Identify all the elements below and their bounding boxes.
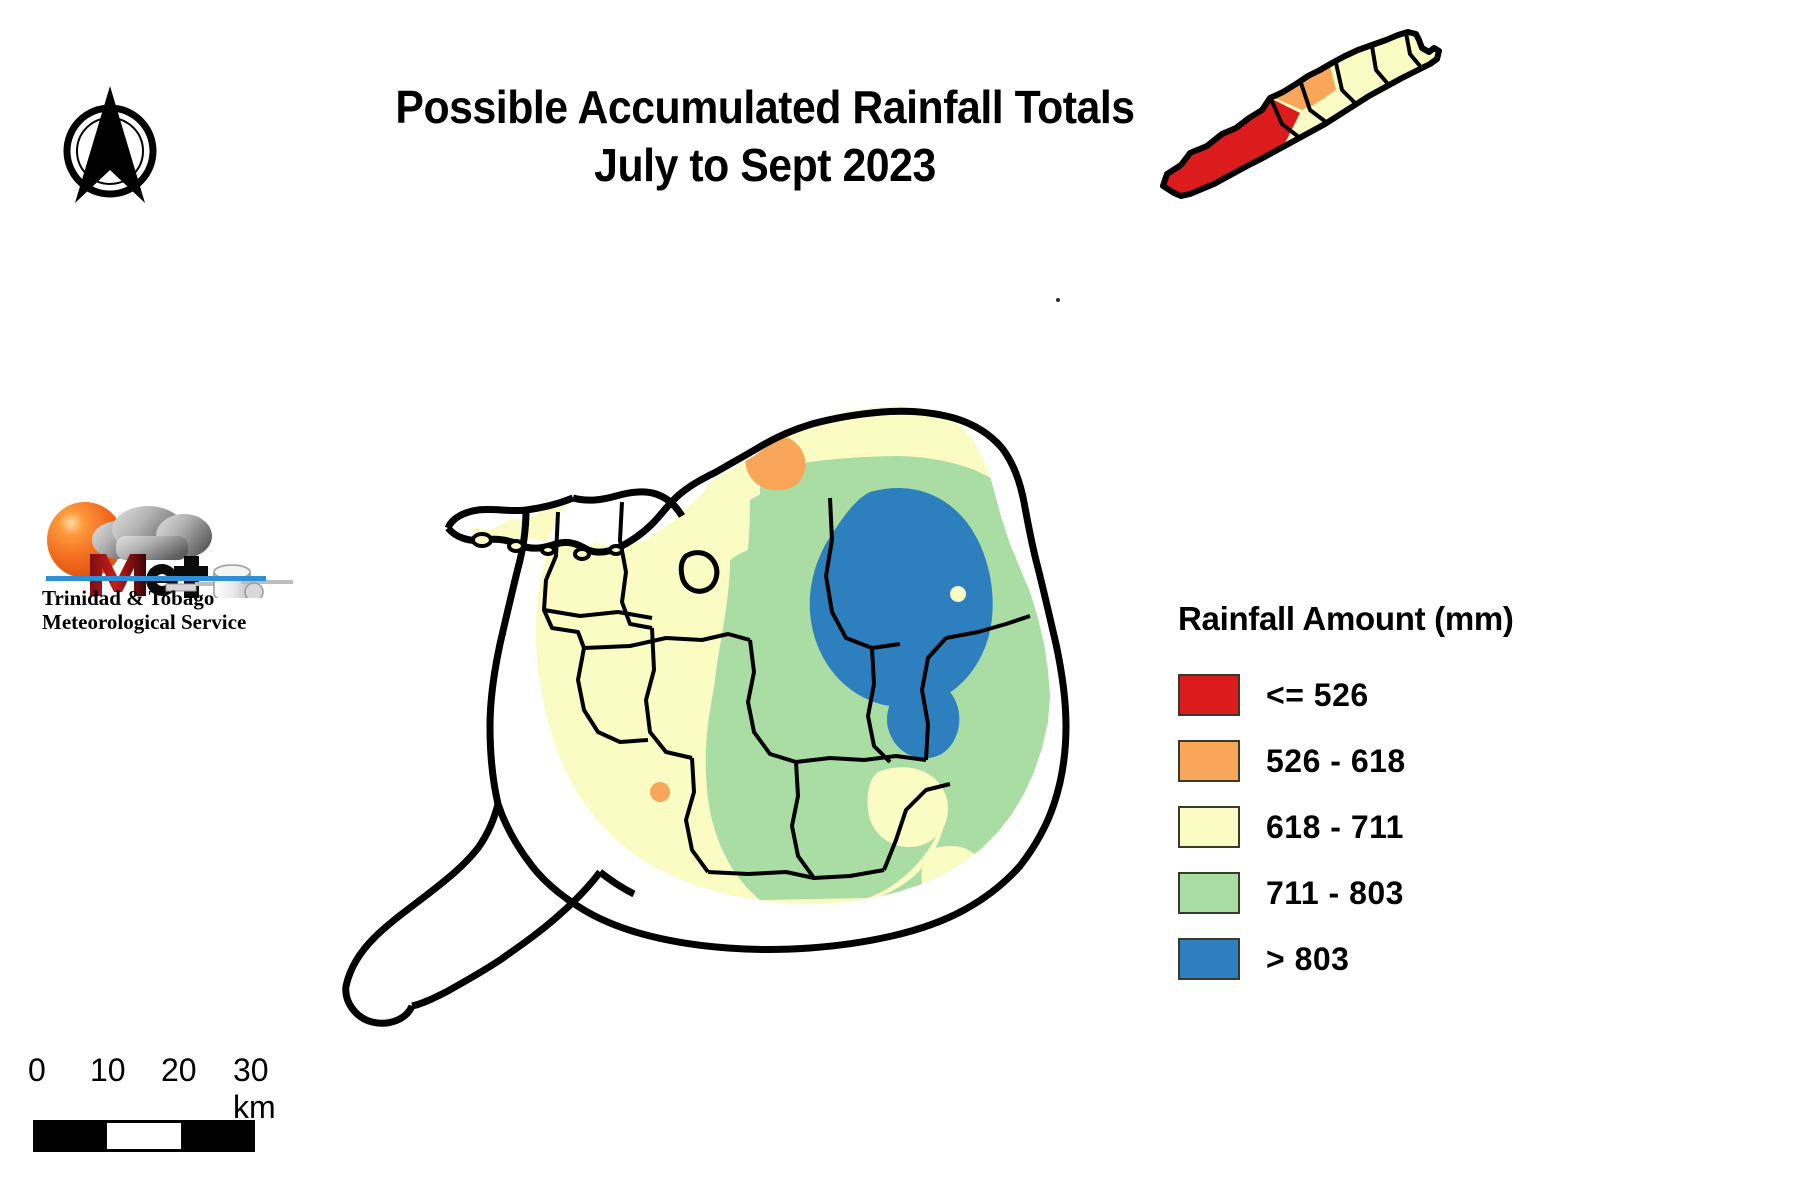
inset-map-tobago <box>1150 18 1480 218</box>
rainfall-surface <box>330 380 1150 1060</box>
legend-item-0[interactable]: <= 526 <box>1178 674 1608 716</box>
title-line-2: July to Sept 2023 <box>333 136 1198 194</box>
title-line-1: Possible Accumulated Rainfall Totals <box>333 78 1198 136</box>
legend-label-2: 618 - 711 <box>1266 809 1404 846</box>
legend-item-4[interactable]: > 803 <box>1178 938 1608 980</box>
legend-label-4: > 803 <box>1266 941 1349 978</box>
legend-swatch-2 <box>1178 806 1240 848</box>
trinidad-map-svg[interactable] <box>330 380 1150 1060</box>
scale-tick-30: 30 km <box>233 1052 318 1126</box>
legend-item-3[interactable]: 711 - 803 <box>1178 872 1608 914</box>
legend-item-2[interactable]: 618 - 711 <box>1178 806 1608 848</box>
met-office-logo: Trinidad & Tobago Meteorological Service <box>38 468 298 643</box>
scale-bar-graphic <box>33 1120 255 1152</box>
scale-bar: 0 10 20 30 km <box>28 1052 328 1172</box>
main-map-trinidad[interactable] <box>330 380 1150 1060</box>
legend-swatch-1 <box>1178 740 1240 782</box>
stray-marker-dot <box>1056 298 1060 302</box>
legend-item-1[interactable]: 526 - 618 <box>1178 740 1608 782</box>
logo-caption-line-1: Trinidad & Tobago <box>42 586 292 610</box>
north-arrow <box>50 78 170 213</box>
tobago-map-svg <box>1150 18 1480 218</box>
scale-tick-0: 0 <box>28 1052 46 1089</box>
offshore-island <box>681 553 717 592</box>
north-arrow-icon <box>50 78 170 213</box>
scale-tick-10: 10 <box>90 1052 126 1089</box>
scale-segment-3 <box>181 1120 255 1152</box>
logo-caption: Trinidad & Tobago Meteorological Service <box>42 586 292 634</box>
scale-tick-20: 20 <box>161 1052 197 1089</box>
scale-segment-1 <box>33 1120 107 1152</box>
scale-segment-2 <box>107 1120 181 1152</box>
legend-label-0: <= 526 <box>1266 677 1369 714</box>
scale-bar-labels: 0 10 20 30 km <box>28 1052 318 1092</box>
legend-title: Rainfall Amount (mm) <box>1178 600 1608 638</box>
legend-label-1: 526 - 618 <box>1266 743 1406 780</box>
legend-label-3: 711 - 803 <box>1266 875 1404 912</box>
legend-swatch-0 <box>1178 674 1240 716</box>
legend-swatch-3 <box>1178 872 1240 914</box>
page-title: Possible Accumulated Rainfall Totals Jul… <box>333 78 1198 194</box>
logo-caption-line-2: Meteorological Service <box>42 610 292 634</box>
map-legend: Rainfall Amount (mm) <= 526 526 - 618 61… <box>1178 600 1608 1004</box>
legend-swatch-4 <box>1178 938 1240 980</box>
logo-divider <box>46 576 266 581</box>
